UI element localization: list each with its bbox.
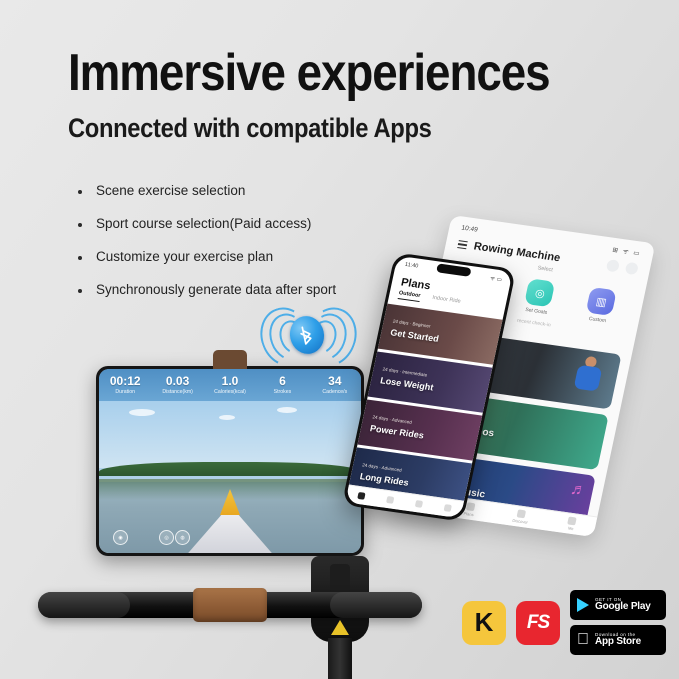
metric-cadence: 34 Cadence/s <box>309 375 361 396</box>
metric-value: 1.0 <box>204 375 256 388</box>
cloud <box>219 415 235 420</box>
bullet-dot-icon <box>78 190 82 194</box>
google-play-badge[interactable]: GET IT ON Google Play <box>570 590 666 620</box>
list-item: Scene exercise selection <box>72 182 402 200</box>
list-item: Sport course selection(Paid access) <box>72 215 402 233</box>
feature-bullet-list: Scene exercise selection Sport course se… <box>72 182 402 314</box>
apple-icon:  <box>577 632 589 648</box>
metric-calories: 1.0 Calories(kcal) <box>204 375 256 396</box>
store-badges-column: GET IT ON Google Play  Download on the … <box>570 590 666 655</box>
plan-title: Get Started <box>390 327 440 344</box>
frame-post <box>328 638 352 679</box>
treeline <box>99 462 361 476</box>
list-item: Customize your exercise plan <box>72 248 402 266</box>
nav-label: Discover <box>512 518 528 525</box>
cloud <box>129 409 155 416</box>
app-screens-group: 10:49 ⊞ ᯤ ▭ Rowing Machine Select ▶ Quic… <box>368 222 668 552</box>
athlete-photo <box>570 355 609 402</box>
cloud <box>277 407 297 413</box>
bullet-text: Customize your exercise plan <box>96 248 273 266</box>
scene-control-icon[interactable]: ◉ <box>113 530 128 545</box>
quick-action-label: Custom <box>588 316 606 324</box>
tablet-screen[interactable]: 00:12 Duration 0.03 Distance(km) 1.0 Cal… <box>99 369 361 553</box>
quick-action-set-goals[interactable]: ◎ Set Goals <box>511 277 568 318</box>
plan-title: Power Rides <box>369 423 425 440</box>
athlete-body <box>574 365 603 392</box>
quick-action-label: Set Goals <box>525 307 548 316</box>
rowing-scene-video: ◉ ◎ ◍ <box>99 401 361 553</box>
boat-tip <box>220 489 240 515</box>
kinomap-glyph: K <box>475 607 494 638</box>
profile-icon[interactable] <box>444 504 452 512</box>
handlebar-leather-wrap <box>193 588 267 622</box>
nav-label: Plans <box>463 511 474 517</box>
bullet-text: Synchronously generate data after sport <box>96 281 336 299</box>
metric-label: Duration <box>99 388 151 396</box>
page-title: Immersive experiences <box>68 44 550 102</box>
kinomap-app-icon[interactable]: K <box>462 601 506 645</box>
metric-value: 00:12 <box>99 375 151 388</box>
metric-value: 6 <box>256 375 308 388</box>
bullet-dot-icon <box>78 256 82 260</box>
bullet-dot-icon <box>78 223 82 227</box>
status-icons: ᯤ ▭ <box>489 274 502 283</box>
plans-icon <box>465 502 475 511</box>
metric-label: Calories(kcal) <box>204 388 256 396</box>
list-item: Synchronously generate data after sport <box>72 281 402 299</box>
fitshow-app-icon[interactable]: FS <box>516 601 560 645</box>
profile-icon[interactable] <box>625 262 639 275</box>
nav-item-me[interactable]: Me <box>566 517 577 532</box>
plan-meta: 24 days · Beginner <box>392 319 431 329</box>
workout-metrics-bar: 00:12 Duration 0.03 Distance(km) 1.0 Cal… <box>99 369 361 401</box>
warning-triangle-icon <box>331 620 349 635</box>
metric-label: Cadence/s <box>309 388 361 396</box>
chart-icon: ▥ <box>586 287 617 316</box>
page-subtitle: Connected with compatible Apps <box>68 112 431 144</box>
scene-control-icon[interactable]: ◎ <box>159 530 174 545</box>
metric-label: Strokes <box>256 388 308 396</box>
nav-label: Me <box>567 526 574 532</box>
bluetooth-svg <box>298 324 316 346</box>
target-icon: ◎ <box>525 278 556 307</box>
tab-outdoor[interactable]: Outdoor <box>398 290 421 302</box>
metric-strokes: 6 Strokes <box>256 375 308 396</box>
app-store-badge[interactable]:  Download on the App Store <box>570 625 666 655</box>
menu-icon[interactable] <box>457 240 468 249</box>
poster-canvas: Immersive experiences Connected with com… <box>0 0 679 679</box>
spacer <box>567 259 600 264</box>
handlebar-grip-right <box>330 592 422 618</box>
status-time: 10:49 <box>461 224 479 233</box>
plans-icon[interactable] <box>386 496 394 504</box>
metric-value: 34 <box>309 375 361 388</box>
badge-big-text: Google Play <box>595 602 651 612</box>
bluetooth-connection-indicator <box>262 306 350 364</box>
metric-value: 0.03 <box>151 375 203 388</box>
google-play-icon <box>577 598 589 612</box>
plan-title: Long Rides <box>359 471 410 488</box>
discover-icon[interactable] <box>415 500 423 508</box>
app-store-text: Download on the App Store <box>595 633 641 648</box>
discover-icon <box>517 509 527 518</box>
google-play-text: GET IT ON Google Play <box>595 598 651 613</box>
plan-title: Lose Weight <box>379 375 434 392</box>
music-note-icon: ♬ <box>569 481 589 501</box>
fitshow-glyph: FS <box>527 612 549 634</box>
bullet-text: Scene exercise selection <box>96 182 245 200</box>
bullet-dot-icon <box>78 289 82 293</box>
metric-duration: 00:12 Duration <box>99 375 151 396</box>
scene-control-icon[interactable]: ◍ <box>175 530 190 545</box>
quick-action-custom[interactable]: ▥ Custom <box>572 285 629 326</box>
profile-icon <box>568 517 578 526</box>
bell-icon[interactable] <box>606 259 620 272</box>
bullet-text: Sport course selection(Paid access) <box>96 215 311 233</box>
metric-label: Distance(km) <box>151 388 203 396</box>
badge-big-text: App Store <box>595 637 641 647</box>
metric-distance: 0.03 Distance(km) <box>151 375 203 396</box>
handlebar-grip-left <box>38 592 130 618</box>
stem-slot <box>330 564 350 594</box>
nav-item-discover[interactable]: Discover <box>512 509 530 525</box>
boat-bow <box>176 489 284 553</box>
workout-icon[interactable] <box>357 492 365 500</box>
tablet-device: 00:12 Duration 0.03 Distance(km) 1.0 Cal… <box>96 366 364 556</box>
app-badges-row: K FS GET IT ON Google Play  Download on… <box>462 590 666 655</box>
status-time: 11:40 <box>404 262 419 272</box>
handlebar <box>38 592 422 618</box>
